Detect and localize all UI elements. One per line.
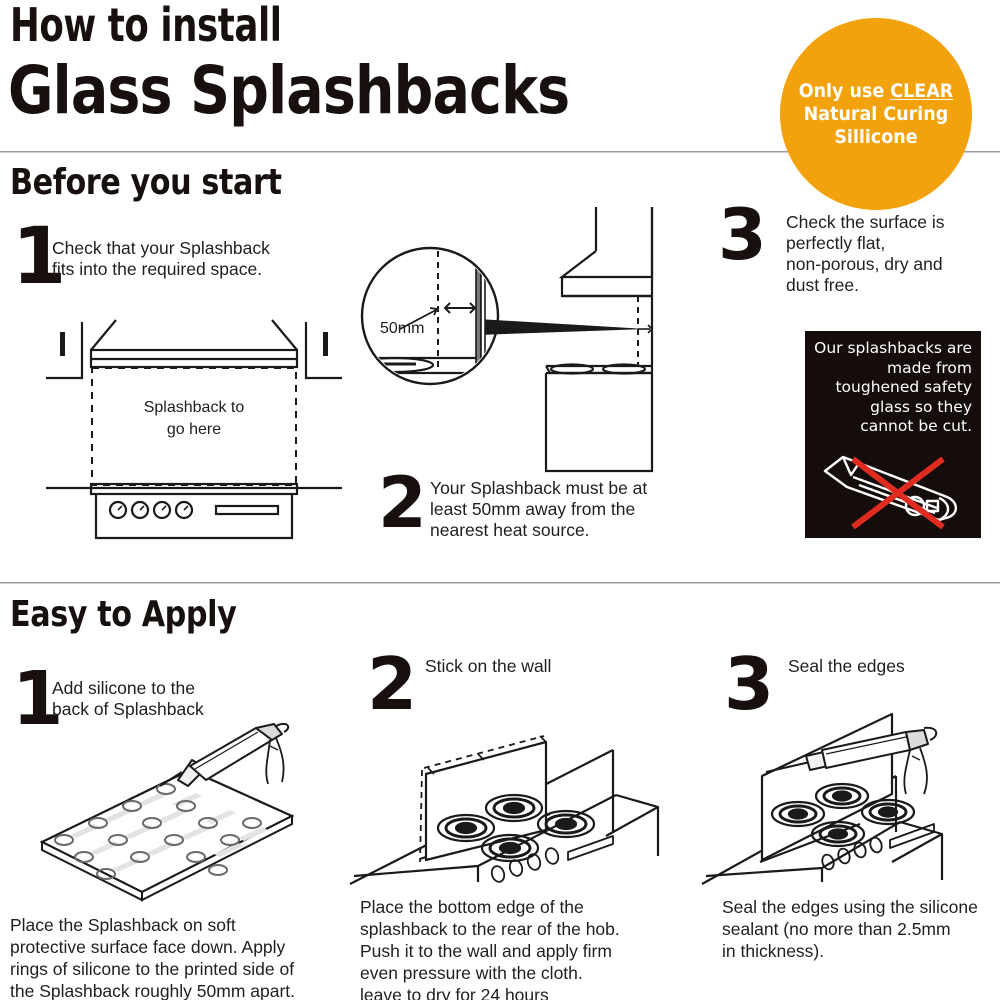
step-text-apply-3: Seal the edges (788, 656, 988, 677)
badge-line1-underlined: CLEAR (890, 80, 953, 102)
diagram-label-splashback-2: go here (167, 421, 221, 438)
badge-text: Only use CLEAR Natural Curing Sillicone (799, 80, 953, 149)
diagram-label-50mm: 50mm (380, 320, 424, 337)
step-text-apply-2: Stick on the wall (425, 656, 685, 677)
badge-line2: Natural Curing (804, 103, 949, 125)
diagram-splashback-fit: Splashback to go here (44, 312, 344, 542)
diagram-seal-the-edges (710, 684, 1000, 884)
step-text-before-2-value: Your Splashback must be at least 50mm aw… (430, 478, 647, 540)
caption-apply-2-value: Place the bottom edge of the splashback … (360, 897, 620, 1000)
diagram-50mm-clearance: 50mm (360, 203, 705, 478)
warning-box-text: Our splashbacks are made from toughened … (813, 339, 972, 437)
section-heading-before-you-start: Before you start (10, 162, 282, 203)
caption-apply-1-value: Place the Splashback on soft protective … (10, 915, 295, 1000)
warning-box-cannot-be-cut: Our splashbacks are made from toughened … (805, 331, 981, 538)
caption-apply-2: Place the bottom edge of the splashback … (360, 896, 690, 1000)
caption-apply-3-value: Seal the edges using the silicone sealan… (722, 897, 978, 961)
page-title-line2: Glass Splashbacks (8, 52, 569, 129)
poster-root: How to install Glass Splashbacks Before … (0, 0, 1000, 1000)
page-title-line1: How to install (10, 0, 281, 52)
step-text-before-1-value: Check that your Splashback fits into the… (52, 238, 270, 279)
no-cut-icon (819, 449, 969, 531)
step-text-before-2: Your Splashback must be at least 50mm aw… (430, 478, 700, 541)
step-text-apply-3-value: Seal the edges (788, 656, 905, 676)
step-text-apply-1-value: Add silicone to the back of Splashback (52, 678, 204, 719)
diagram-stick-on-wall (358, 684, 703, 884)
badge-line3: Sillicone (834, 126, 917, 148)
step-text-apply-1: Add silicone to the back of Splashback (52, 678, 332, 720)
caption-apply-1: Place the Splashback on soft protective … (10, 914, 340, 1000)
step-text-apply-2-value: Stick on the wall (425, 656, 551, 676)
diagram-silicone-rings (20, 722, 320, 902)
clear-silicone-badge: Only use CLEAR Natural Curing Sillicone (780, 18, 972, 210)
badge-line1-pre: Only use (799, 80, 891, 102)
step-text-before-1: Check that your Splashback fits into the… (52, 238, 342, 280)
step-text-before-3: Check the surface is perfectly flat, non… (786, 212, 996, 296)
step-number-before-3: 3 (718, 200, 767, 270)
section-heading-easy-to-apply: Easy to Apply (10, 594, 236, 635)
diagram-label-splashback-1: Splashback to (144, 399, 245, 416)
step-text-before-3-value: Check the surface is perfectly flat, non… (786, 212, 945, 295)
divider-middle (0, 582, 1000, 584)
step-number-before-2: 2 (378, 468, 427, 538)
caption-apply-3: Seal the edges using the silicone sealan… (722, 896, 992, 962)
